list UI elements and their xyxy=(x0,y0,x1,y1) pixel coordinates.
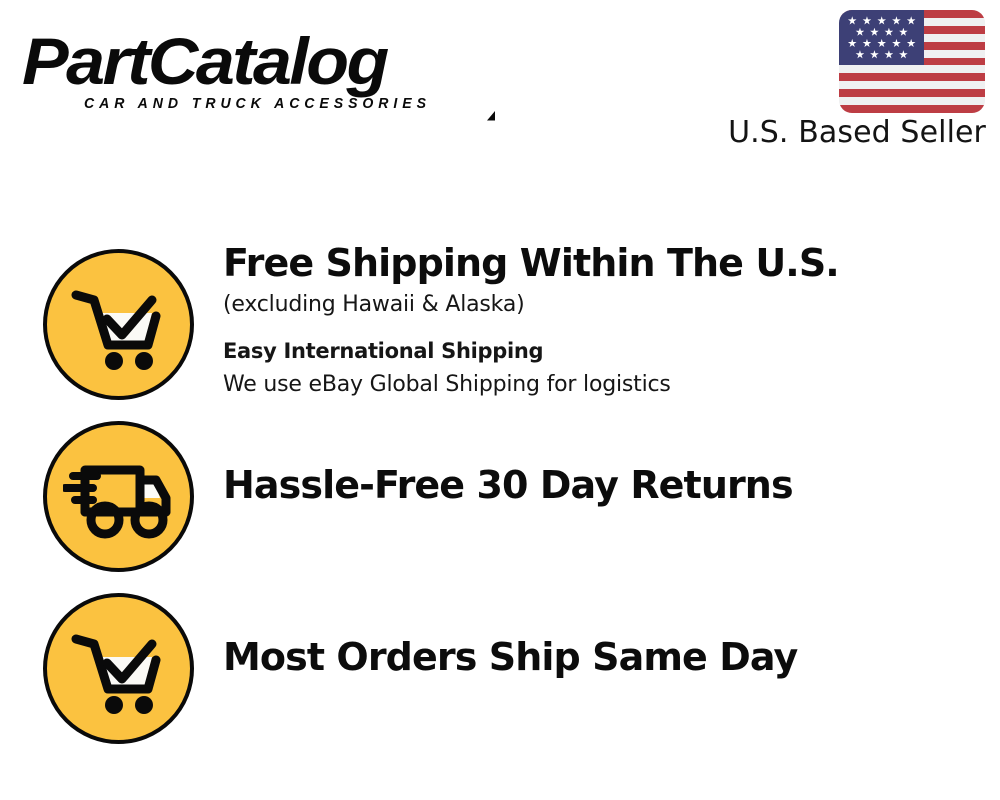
feature-text-block: Free Shipping Within The U.S. (excluding… xyxy=(195,238,1000,402)
flag-star-row xyxy=(842,50,921,59)
shopping-cart-check-icon xyxy=(43,249,194,400)
star-icon xyxy=(870,50,879,59)
flag-canton xyxy=(839,10,924,65)
feature-item-returns: Hassle-Free 30 Day Returns xyxy=(0,410,1000,582)
feature-heading: Free Shipping Within The U.S. xyxy=(223,239,1000,287)
us-based-seller-badge: U.S. Based Seller xyxy=(716,10,986,150)
star-icon xyxy=(892,16,901,25)
star-icon xyxy=(848,16,857,25)
shopping-cart-check-icon xyxy=(43,593,194,744)
flag-star-row xyxy=(842,39,921,48)
brand-wordmark: PartCatalog xyxy=(22,26,387,96)
star-icon xyxy=(877,39,886,48)
feature-icon-wrap xyxy=(43,238,195,400)
star-icon xyxy=(884,50,893,59)
star-icon xyxy=(862,39,871,48)
us-flag-icon xyxy=(839,10,985,113)
feature-subtext-exclusions: (excluding Hawaii & Alaska) xyxy=(223,288,1000,322)
brand-logo[interactable]: PartCatalog CAR AND TRUCK ACCESSORIES xyxy=(22,26,492,118)
star-icon xyxy=(862,16,871,25)
feature-subtext-logistics: We use eBay Global Shipping for logistic… xyxy=(223,368,1000,402)
star-icon xyxy=(907,39,916,48)
feature-item-free-shipping: Free Shipping Within The U.S. (excluding… xyxy=(0,238,1000,410)
feature-text-block: Hassle-Free 30 Day Returns xyxy=(195,410,1000,508)
flag-star-row xyxy=(842,28,921,37)
feature-icon-wrap xyxy=(43,410,195,572)
feature-item-same-day-ship: Most Orders Ship Same Day xyxy=(0,582,1000,754)
flag-star-row xyxy=(842,16,921,25)
star-icon xyxy=(855,28,864,37)
star-icon xyxy=(855,50,864,59)
feature-heading: Hassle-Free 30 Day Returns xyxy=(223,462,1000,508)
feature-heading: Most Orders Ship Same Day xyxy=(223,634,1000,680)
delivery-truck-icon xyxy=(43,421,194,572)
star-icon xyxy=(884,28,893,37)
logo-swoosh-icon xyxy=(427,110,497,122)
us-based-seller-label: U.S. Based Seller xyxy=(716,116,986,150)
star-icon xyxy=(892,39,901,48)
star-icon xyxy=(870,28,879,37)
star-icon xyxy=(899,50,908,59)
star-icon xyxy=(907,16,916,25)
page-header: PartCatalog CAR AND TRUCK ACCESSORIES xyxy=(0,0,1000,175)
brand-tagline: CAR AND TRUCK ACCESSORIES xyxy=(84,96,431,112)
feature-text-block: Most Orders Ship Same Day xyxy=(195,582,1000,680)
star-icon xyxy=(877,16,886,25)
star-icon xyxy=(848,39,857,48)
feature-subtext-international-heading: Easy International Shipping xyxy=(223,334,1000,368)
star-icon xyxy=(899,28,908,37)
feature-icon-wrap xyxy=(43,582,195,744)
